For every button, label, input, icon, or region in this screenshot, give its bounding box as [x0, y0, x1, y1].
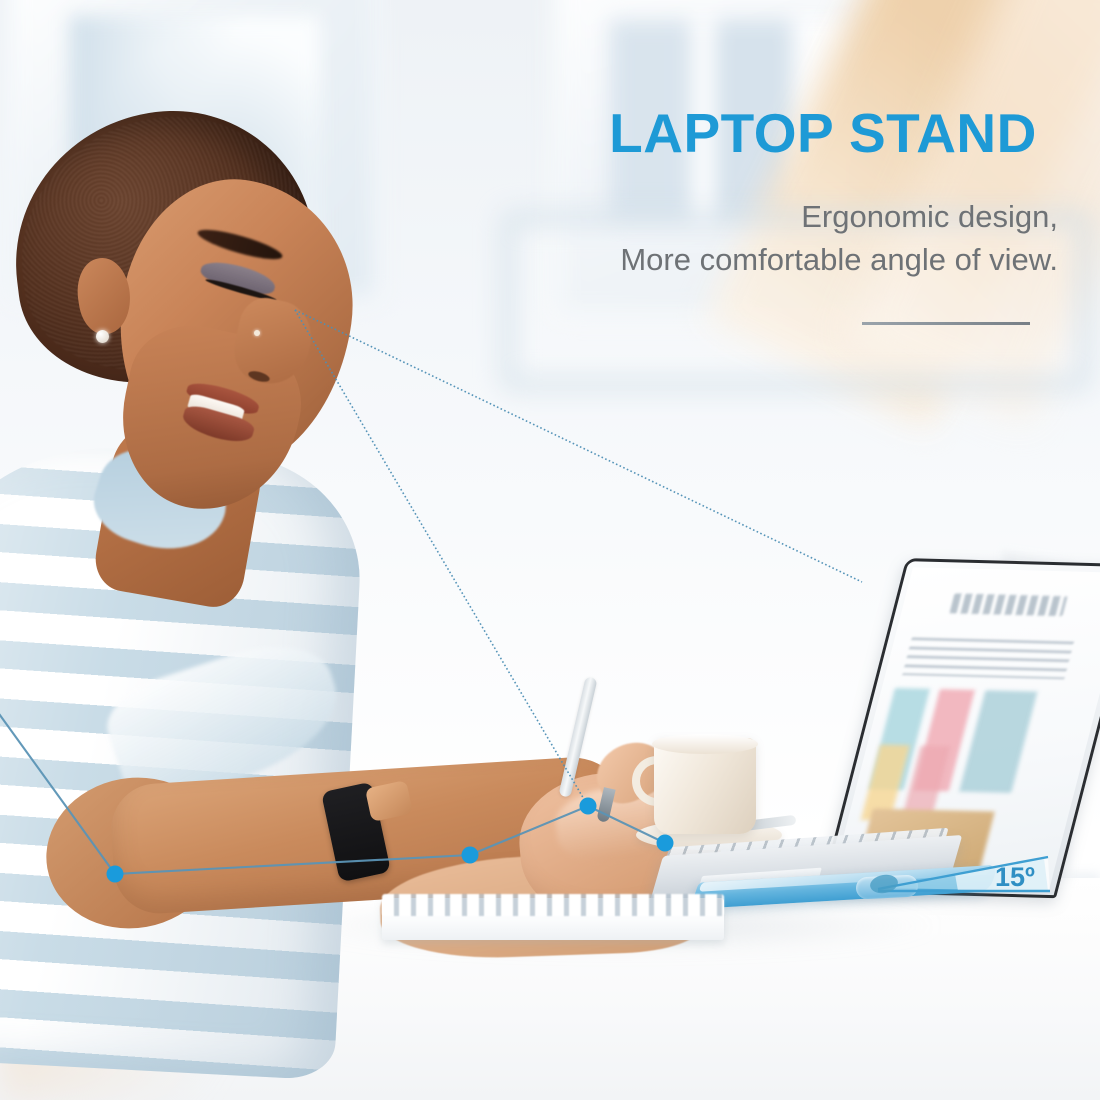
vertex-dot-handtip [657, 835, 674, 852]
vertex-dot-elbow [107, 866, 124, 883]
arm-posture-polyline-group [0, 660, 674, 883]
page-title: LAPTOP STAND [588, 105, 1058, 163]
vertex-dot-wrist [462, 847, 479, 864]
ergonomics-diagram-overlay [0, 0, 1100, 1100]
product-marketing-image: LAPTOP STAND Ergonomic design, More comf… [0, 0, 1100, 1100]
eye-to-hand-sightline [295, 310, 588, 806]
arm-posture-polyline [0, 660, 665, 874]
angle-label: 15º [995, 862, 1035, 893]
tagline-line-1: Ergonomic design, [470, 196, 1058, 239]
vertex-dot-knuckle [580, 798, 597, 815]
eye-to-screen-sightline [295, 310, 862, 582]
title-underline-rule [862, 322, 1030, 325]
sight-lines-group [295, 310, 862, 806]
tagline: Ergonomic design, More comfortable angle… [470, 196, 1058, 282]
tagline-line-2: More comfortable angle of view. [470, 239, 1058, 282]
